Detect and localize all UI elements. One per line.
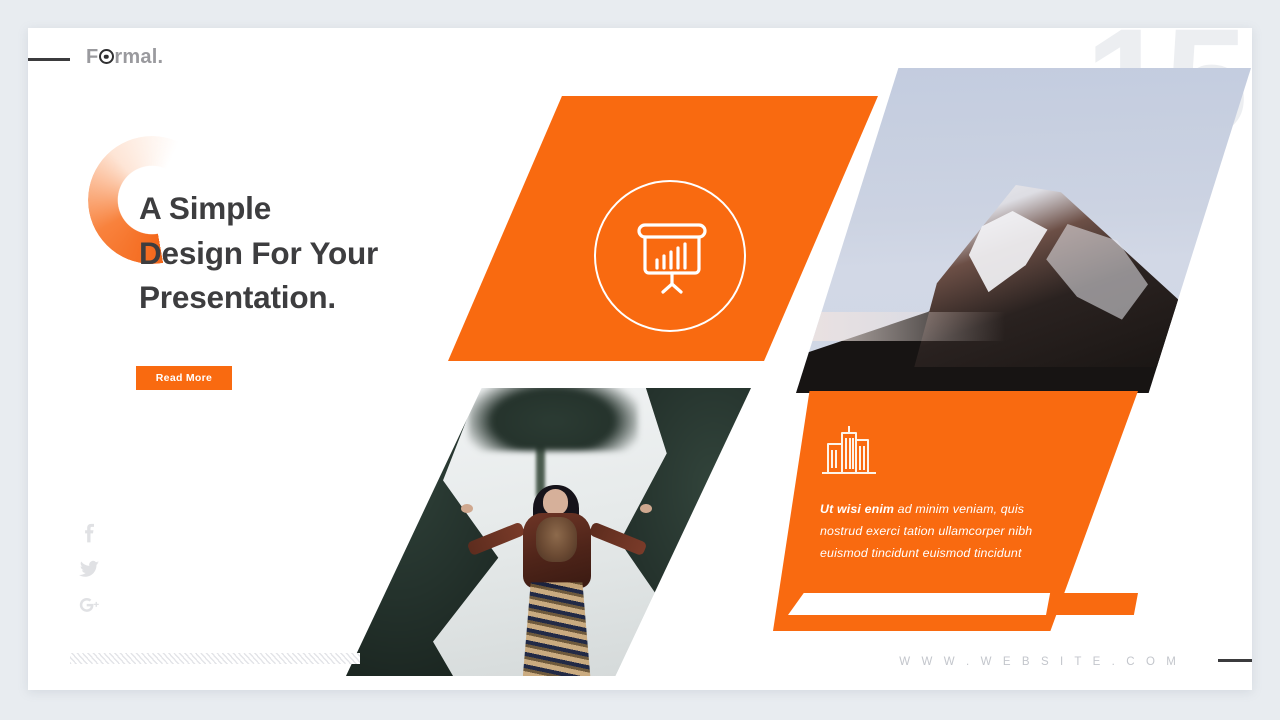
hand-left [461, 504, 473, 513]
head [543, 489, 569, 515]
headline-line-2: Design For Your [139, 231, 469, 276]
body-paragraph: Ut wisi enim ad minim veniam, quis nostr… [820, 498, 1052, 564]
website-url: W W W . W E B S I T E . C O M [899, 656, 1180, 668]
city-buildings-icon [820, 424, 878, 479]
logo-letter-f: F [86, 46, 98, 68]
headline-line-1: A Simple [139, 186, 469, 231]
logo-suffix: rmal. [114, 46, 163, 68]
header-dash-icon [28, 58, 70, 61]
read-more-button[interactable]: Read More [136, 366, 232, 390]
woman-photo [346, 388, 751, 676]
tree-canopy [468, 388, 638, 451]
google-plus-icon[interactable] [76, 592, 102, 618]
footer-dash-icon [1218, 659, 1252, 662]
woman-figure [472, 489, 642, 676]
mountain-haze [796, 312, 1005, 341]
body-paragraph-lead: Ut wisi enim [820, 502, 894, 516]
arm-right [588, 521, 647, 556]
arm-left [466, 521, 525, 556]
orange-accent-bar [1046, 593, 1138, 615]
social-links [76, 518, 102, 629]
hand-right [640, 504, 652, 513]
logo-dot-o-icon [99, 49, 114, 64]
facebook-icon[interactable] [76, 518, 102, 544]
presentation-slide: 15 Frmal. A Simple Design For Your Prese… [28, 28, 1252, 690]
brand-logo[interactable]: Frmal. [86, 46, 163, 69]
page-title: A Simple Design For Your Presentation. [139, 186, 469, 320]
fur-collar [536, 517, 577, 562]
diagonal-hatch-decoration [70, 653, 360, 664]
patterned-skirt [523, 582, 591, 676]
twitter-icon[interactable] [76, 555, 102, 581]
headline-line-3: Presentation. [139, 275, 469, 320]
presentation-chart-icon [594, 180, 746, 332]
